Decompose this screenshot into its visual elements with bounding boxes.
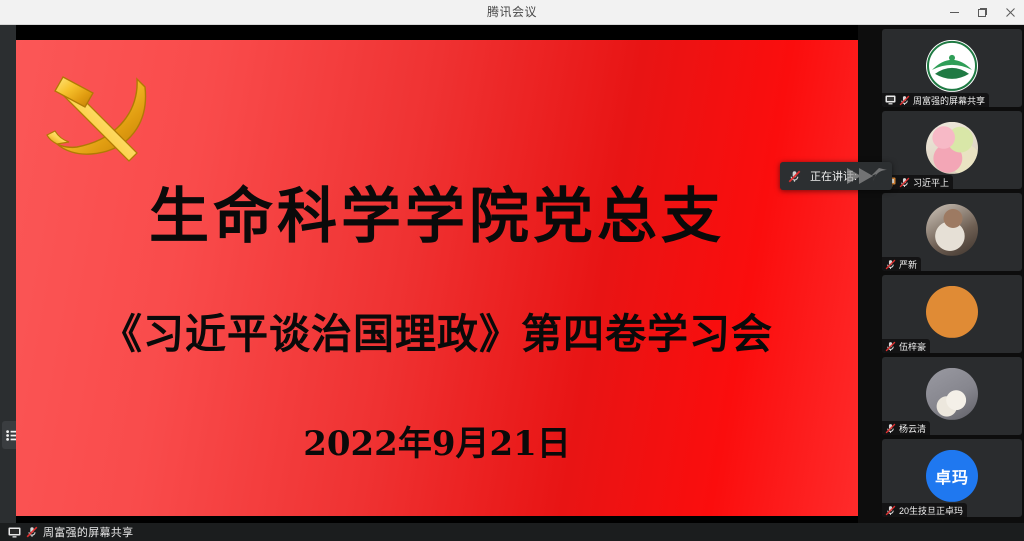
tile-footer: 伍梓豪 [882,339,930,353]
org-logo-icon [926,40,978,92]
close-button[interactable] [996,0,1024,24]
participant-name: 严新 [899,258,917,271]
left-rail [0,25,16,541]
presentation-slide: 生命科学学院党总支 《习近平谈治国理政》第四卷学习会 2022年9月21日 [16,40,858,516]
tile-footer: 周富强的屏幕共享 [882,93,989,107]
microphone-muted-icon [885,341,896,352]
participant-tile-6[interactable]: 卓玛 20生技旦正卓玛 [882,439,1022,517]
cat-photo-icon [926,286,978,338]
avatar [926,40,978,92]
slide-date: 2022年9月21日 [16,422,858,466]
microphone-muted-icon [885,423,896,434]
restore-icon [977,7,988,18]
tile-footer: 20生技旦正卓玛 [882,503,967,517]
avatar: 卓玛 [926,450,978,502]
microphone-muted-icon [26,526,38,538]
mouse-cursor-icon [845,162,889,190]
participant-tile-screen-share[interactable]: 周富强的屏幕共享 [882,29,1022,107]
microphone-muted-icon [788,170,801,183]
avatar [926,368,978,420]
minimize-icon [949,7,960,18]
avatar-initials: 卓玛 [926,450,978,502]
minimize-button[interactable] [940,0,968,24]
avatar [926,286,978,338]
window-controls [940,0,1024,24]
restore-button[interactable] [968,0,996,24]
tile-footer: 杨云清 [882,421,930,435]
participant-strip[interactable]: 周富强的屏幕共享 习近平上 [858,25,1024,523]
window-title: 腾讯会议 [0,0,1024,24]
tile-footer: 严新 [882,257,921,271]
participant-name: 20生技旦正卓玛 [899,504,963,517]
title-bar: 腾讯会议 [0,0,1024,25]
monitor-share-icon [8,527,21,538]
tile-footer: 习近平上 [882,175,953,189]
avatar [926,204,978,256]
participant-tile-5[interactable]: 杨云清 [882,357,1022,435]
participant-name: 杨云清 [899,422,926,435]
monitor-share-icon [885,95,896,105]
share-status-bar: 周富强的屏幕共享 [0,523,1024,541]
share-status-label: 周富强的屏幕共享 [43,524,133,540]
close-icon [1005,7,1016,18]
slide-subtitle: 《习近平谈治国理政》第四卷学习会 [16,308,858,360]
tencent-meeting-window: 腾讯会议 [0,0,1024,541]
microphone-muted-icon [899,95,910,106]
microphone-muted-icon [885,259,896,270]
participant-tile-4[interactable]: 伍梓豪 [882,275,1022,353]
shared-screen-area[interactable]: 生命科学学院党总支 《习近平谈治国理政》第四卷学习会 2022年9月21日 [16,25,858,523]
microphone-muted-icon [885,505,896,516]
microphone-muted-icon [899,177,910,188]
participant-name: 习近平上 [913,176,949,189]
panda-photo-icon [926,368,978,420]
flower-photo-icon [926,122,978,174]
slide-title: 生命科学学院党总支 [16,180,858,254]
avatar [926,122,978,174]
participant-name: 周富强的屏幕共享 [913,94,985,107]
participant-tile-2[interactable]: 习近平上 [882,111,1022,189]
person-photo-icon [926,204,978,256]
participant-name: 伍梓豪 [899,340,926,353]
hammer-and-sickle-icon [41,63,161,163]
participant-tile-3[interactable]: 严新 [882,193,1022,271]
